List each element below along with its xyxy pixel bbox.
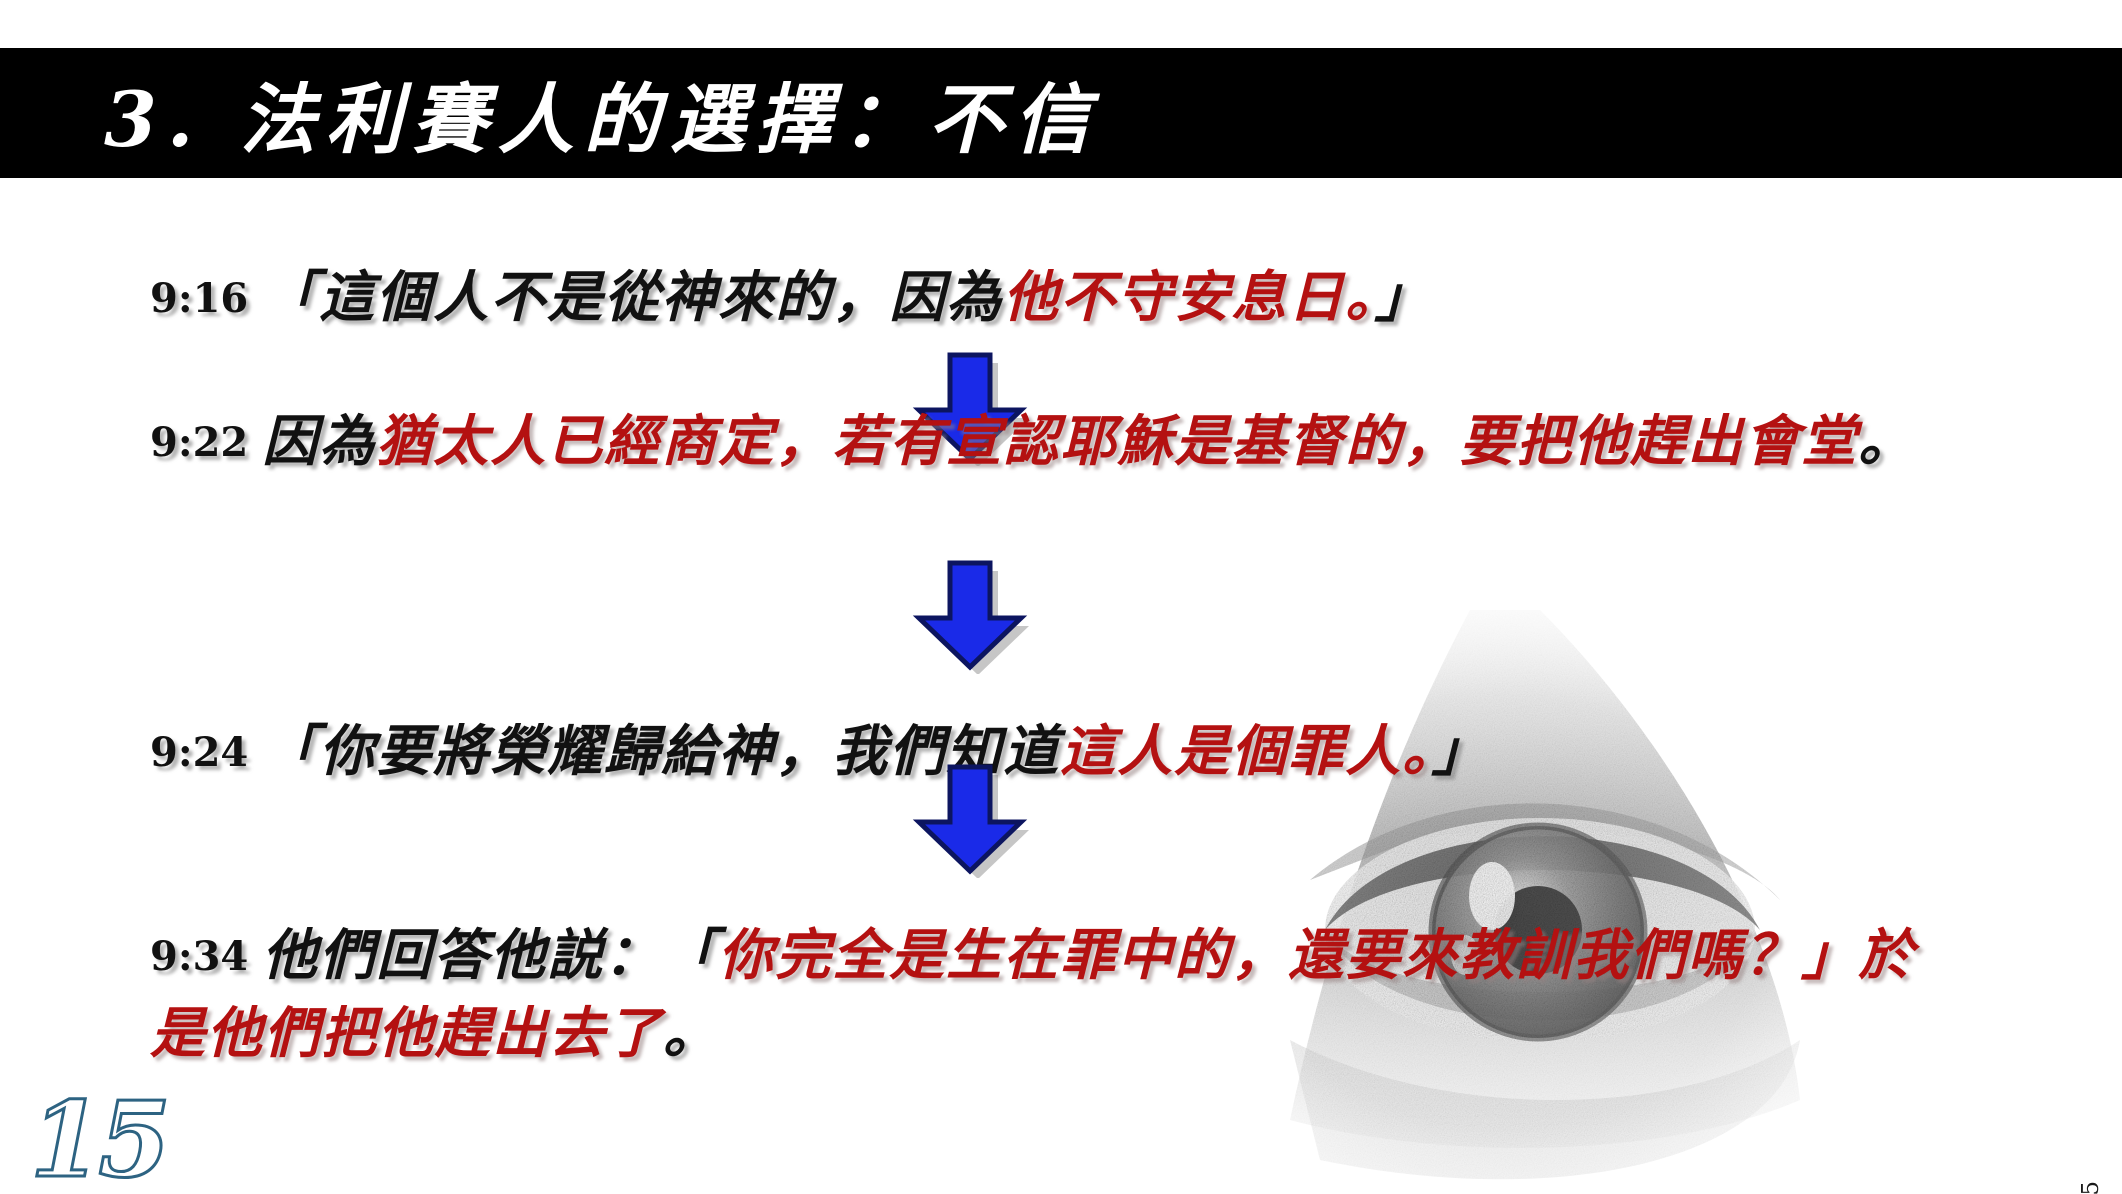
verse-9-16-red: 他不守安息日。	[1003, 264, 1375, 329]
verse-ref-9-22: 9:22	[150, 419, 248, 466]
verse-ref-9-34: 9:34	[150, 933, 248, 980]
page-title: 3. 法利賽人的選擇：不信	[104, 58, 1100, 168]
down-arrow-icon-2	[910, 556, 1030, 674]
verse-ref-9-24: 9:24	[150, 729, 248, 776]
page-number: 15	[30, 1078, 167, 1194]
document-code: TR20241103-15	[2078, 1180, 2104, 1194]
verse-block-9-24: 9:24「你要將榮耀歸給神，我們知道這人是個罪人。」	[150, 712, 1970, 790]
verse-9-16-black-lead: 「這個人不是從神來的，因為	[262, 264, 1003, 329]
eye-photo-background	[1140, 600, 1870, 1194]
verse-9-24-black-tail: 」	[1432, 718, 1489, 783]
verse-9-22-black-tail: 。	[1858, 408, 1915, 473]
down-arrow-icon-3	[910, 760, 1030, 878]
verse-9-22-black-lead: 因為	[262, 408, 376, 473]
verse-block-9-22: 9:22因為猶太人已經商定，若有宣認耶穌是基督的，要把他趕出會堂。	[150, 402, 1970, 480]
slide-canvas: 3. 法利賽人的選擇：不信 9:16「這個人不是從神來的，因為他不守安息日。」 …	[0, 0, 2122, 1194]
title-band: 3. 法利賽人的選擇：不信	[0, 48, 2122, 178]
verse-9-24-red: 這人是個罪人。	[1060, 718, 1432, 783]
verse-9-16-black-tail: 」	[1375, 264, 1432, 329]
verse-block-9-16: 9:16「這個人不是從神來的，因為他不守安息日。」	[150, 258, 1970, 336]
verse-9-34-black-lead: 他們回答他説：「	[262, 922, 718, 987]
verse-9-34-black-tail: 。	[663, 1000, 720, 1065]
verse-ref-9-16: 9:16	[150, 275, 248, 322]
verse-9-22-red: 猶太人已經商定，若有宣認耶穌是基督的，要把他趕出會堂	[376, 408, 1858, 473]
verse-block-9-34: 9:34他們回答他説：「你完全是生在罪中的，還要來教訓我們嗎？」於是他們把他趕出…	[150, 916, 1970, 1072]
